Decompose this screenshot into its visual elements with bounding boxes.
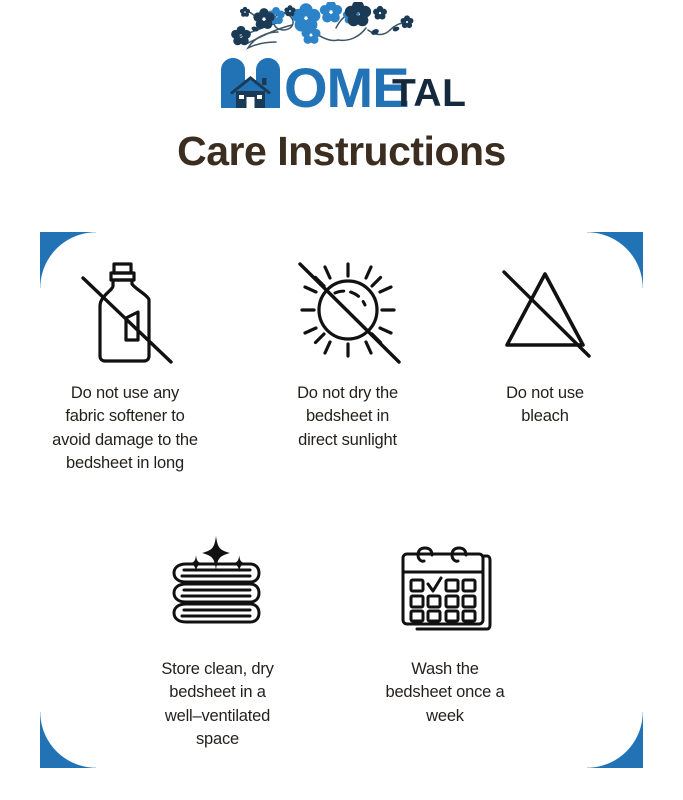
care-caption: Store clean, dry bedsheet in a well–vent… [118,658,318,752]
house-in-letter-h-icon [221,58,280,108]
care-item-no-fabric-softener: Do not use any fabric softener to avoid … [0,252,250,476]
no-bleach-icon [490,252,600,368]
care-item-no-direct-sunlight: Do not dry the bedsheet in direct sunlig… [250,252,445,476]
calendar-check-icon [387,528,503,644]
care-row-bottom: Store clean, dry bedsheet in a well–vent… [0,528,683,752]
brand-logo: OME TALES [0,2,683,114]
care-item-no-bleach: Do not use bleach [445,252,645,476]
sparkle-icon [188,536,246,572]
care-caption: Do not use bleach [458,382,633,429]
floral-vine-ornament-icon [218,2,428,60]
care-row-top: Do not use any fabric softener to avoid … [0,252,683,476]
care-caption: Do not use any fabric softener to avoid … [15,382,235,476]
brand-wordmark: OME TALES [218,54,468,110]
care-caption: Wash the bedsheet once a week [345,658,545,728]
care-caption: Do not dry the bedsheet in direct sunlig… [260,382,435,452]
no-fabric-softener-icon [70,252,180,368]
no-direct-sunlight-icon [290,252,406,368]
care-item-store-clean-dry: Store clean, dry bedsheet in a well–vent… [105,528,330,752]
care-item-wash-once-a-week: Wash the bedsheet once a week [330,528,560,752]
row-spacer [0,528,105,752]
page-title: Care Instructions [0,129,683,174]
care-instructions-page: OME TALES Care Instructions [0,0,683,800]
wordmark-ome: OME [284,56,409,110]
wordmark-tales: TALES [392,72,468,110]
folded-linens-sparkle-icon [160,528,276,644]
